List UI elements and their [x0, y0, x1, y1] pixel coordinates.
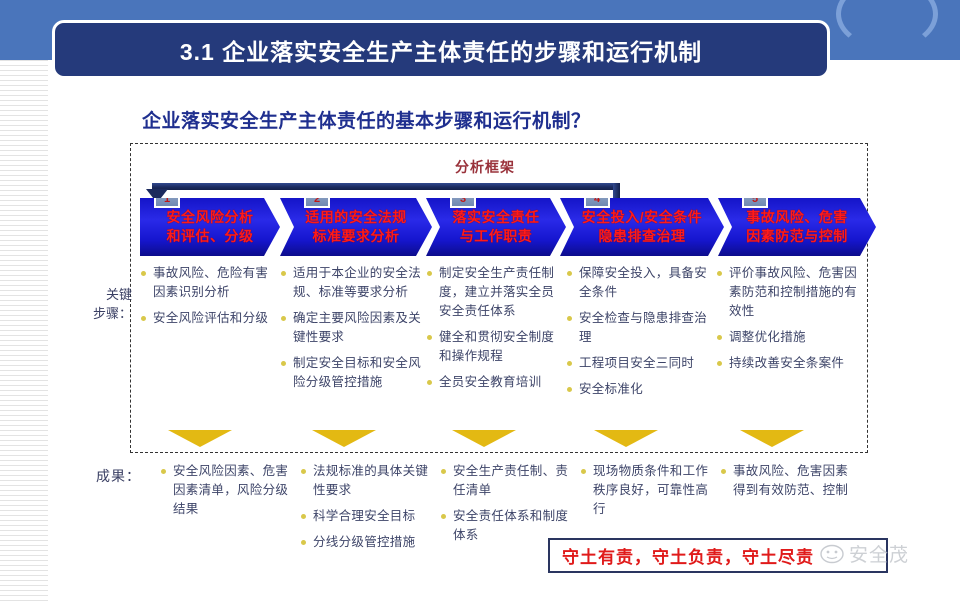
down-arrow-icon-1	[168, 430, 232, 447]
page-title: 3.1 企业落实安全生产主体责任的步骤和运行机制	[180, 33, 702, 67]
down-arrow-icon-5	[740, 430, 804, 447]
process-connector-bar	[152, 183, 620, 190]
slide-subtitle: 企业落实安全生产主体责任的基本步骤和运行机制？	[142, 106, 591, 133]
list-item: 保障安全投入，具备安全条件	[566, 264, 712, 302]
step-title-line1: 事故风险、危害	[746, 208, 848, 227]
process-step-3[interactable]: 3 落实安全责任 与工作职责	[426, 198, 566, 256]
watermark: 安全茂	[818, 540, 909, 567]
step-title-line2: 标准要求分析	[313, 227, 400, 246]
key-steps-column-3: 制定安全生产责任制度，建立并落实全员安全责任体系 健全和贯彻安全制度和操作规程 …	[426, 264, 566, 424]
step-title-line1: 安全风险分析	[167, 208, 254, 227]
process-chevron-row: 1 安全风险分析 和评估、分级 2 适用的安全法规 标准要求分析 3 落实安全责…	[140, 198, 860, 256]
list-item: 调整优化措施	[716, 328, 862, 347]
key-steps-label-line1: 关键	[84, 285, 132, 304]
analysis-framework-label: 分析框架	[455, 157, 515, 177]
slogan-text: 守土有责，守土负责，守土尽责	[562, 543, 814, 568]
list-item: 法规标准的具体关键性要求	[300, 462, 434, 500]
key-steps-column-1: 事故风险、危险有害因素识别分析 安全风险评估和分级	[140, 264, 280, 424]
list-item: 安全标准化	[566, 380, 712, 399]
watermark-logo-icon	[818, 542, 846, 565]
step-title-line2: 与工作职责	[460, 227, 533, 246]
list-item: 全员安全教育培训	[426, 373, 562, 392]
key-steps-label: 关键 步骤：	[84, 285, 132, 323]
process-connector-drop	[613, 183, 620, 199]
slide-root: 3.1 企业落实安全生产主体责任的步骤和运行机制 企业落实安全生产主体责任的基本…	[0, 0, 960, 601]
left-stripe-decoration	[0, 60, 48, 601]
list-item: 持续改善安全条案件	[716, 354, 862, 373]
list-item: 制定安全目标和安全风险分级管控措施	[280, 354, 422, 392]
list-item: 评价事故风险、危害因素防范和控制措施的有效性	[716, 264, 862, 321]
step-title-line1: 落实安全责任	[453, 208, 540, 227]
results-column-2: 法规标准的具体关键性要求 科学合理安全目标 分线分级管控措施	[300, 462, 440, 592]
process-step-4[interactable]: 4 安全投入/安全条件 隐患排查治理	[560, 198, 724, 256]
key-steps-column-2: 适用于本企业的安全法规、标准等要求分析 确定主要风险因素及关键性要求 制定安全目…	[280, 264, 426, 424]
watermark-text: 安全茂	[849, 540, 909, 567]
list-item: 安全风险评估和分级	[140, 309, 276, 328]
list-item: 现场物质条件和工作秩序良好，可靠性高行	[580, 462, 714, 519]
watermark-circle-icon	[818, 542, 846, 565]
list-item: 安全风险因素、危害因素清单，风险分级结果	[160, 462, 294, 519]
list-item: 健全和贯彻安全制度和操作规程	[426, 328, 562, 366]
step-title-line1: 适用的安全法规	[305, 208, 407, 227]
list-item: 事故风险、危险有害因素识别分析	[140, 264, 276, 302]
step-title-line1: 安全投入/安全条件	[582, 208, 702, 227]
list-item: 制定安全生产责任制度，建立并落实全员安全责任体系	[426, 264, 562, 321]
list-item: 工程项目安全三同时	[566, 354, 712, 373]
list-item: 科学合理安全目标	[300, 507, 434, 526]
key-steps-label-line2: 步骤：	[84, 304, 132, 323]
process-step-1[interactable]: 1 安全风险分析 和评估、分级	[140, 198, 280, 256]
down-arrow-icon-3	[452, 430, 516, 447]
results-column-1: 安全风险因素、危害因素清单，风险分级结果	[160, 462, 300, 592]
list-item: 安全检查与隐患排查治理	[566, 309, 712, 347]
key-steps-bullets-row: 事故风险、危险有害因素识别分析 安全风险评估和分级 适用于本企业的安全法规、标准…	[140, 264, 866, 424]
list-item: 适用于本企业的安全法规、标准等要求分析	[280, 264, 422, 302]
list-item: 事故风险、危害因素得到有效防范、控制	[720, 462, 854, 500]
step-title-line2: 隐患排查治理	[599, 227, 686, 246]
process-step-5[interactable]: 5 事故风险、危害 因素防范与控制	[718, 198, 876, 256]
process-step-2[interactable]: 2 适用的安全法规 标准要求分析	[280, 198, 432, 256]
step-title-line2: 因素防范与控制	[746, 227, 848, 246]
down-arrow-icon-2	[312, 430, 376, 447]
step-title-line2: 和评估、分级	[167, 227, 254, 246]
list-item: 分线分级管控措施	[300, 533, 434, 552]
results-label: 成果：	[96, 466, 141, 486]
list-item: 安全生产责任制、责任清单	[440, 462, 574, 500]
key-steps-column-4: 保障安全投入，具备安全条件 安全检查与隐患排查治理 工程项目安全三同时 安全标准…	[566, 264, 716, 424]
right-edge-decoration	[954, 60, 960, 601]
key-steps-column-5: 评价事故风险、危害因素防范和控制措施的有效性 调整优化措施 持续改善安全条案件	[716, 264, 866, 424]
list-item: 确定主要风险因素及关键性要求	[280, 309, 422, 347]
slide-title-bar: 3.1 企业落实安全生产主体责任的步骤和运行机制	[52, 20, 830, 79]
down-arrow-icon-4	[594, 430, 658, 447]
